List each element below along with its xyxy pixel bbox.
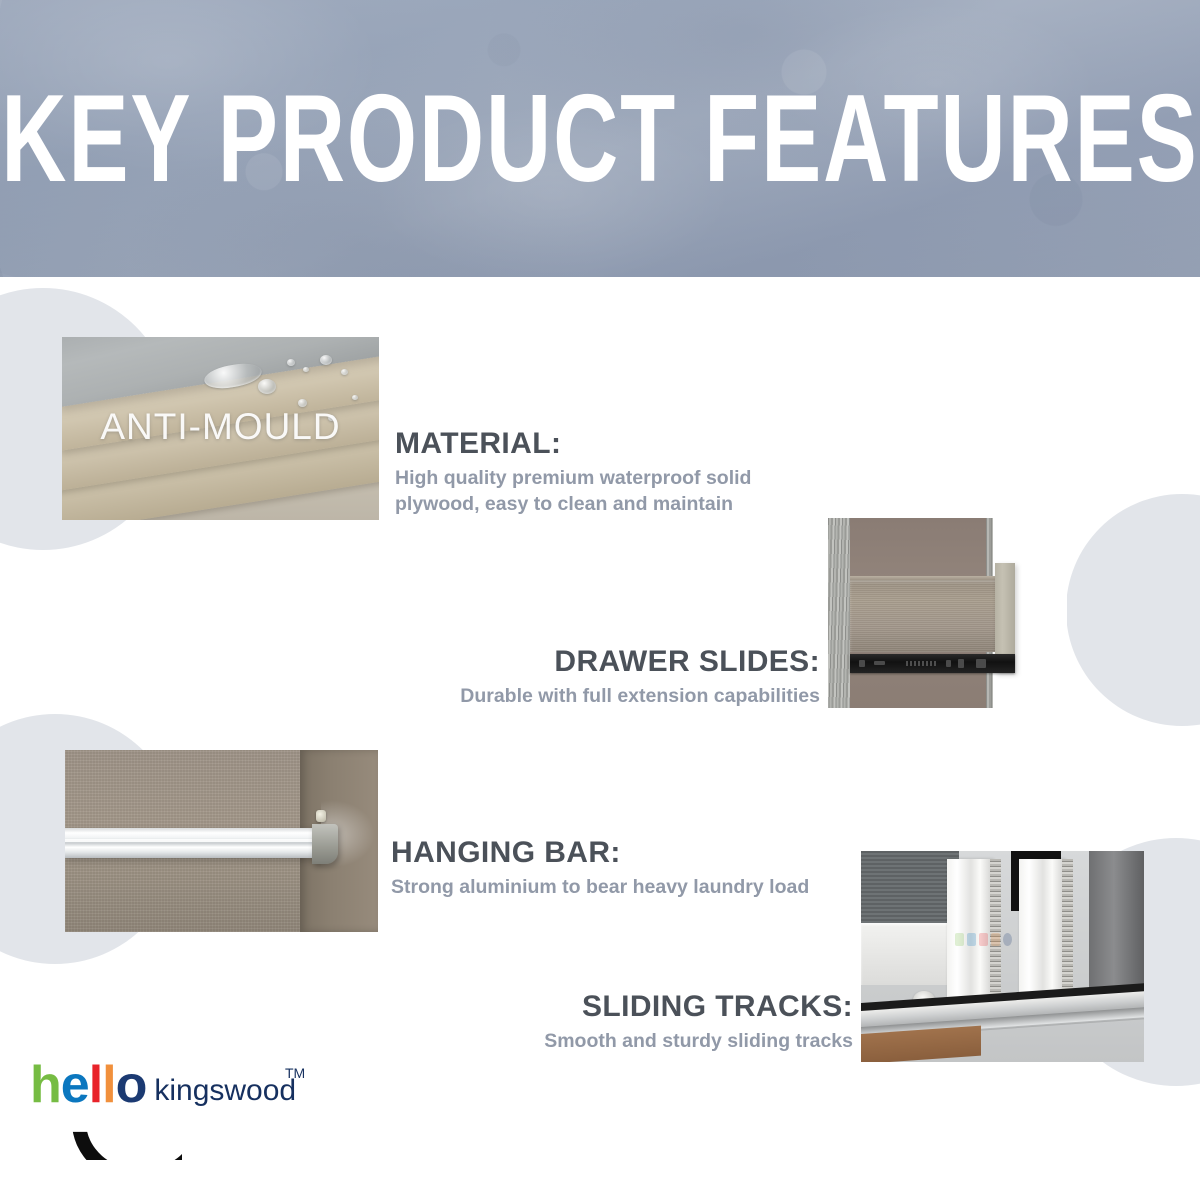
anti-mould-overlay-label: ANTI-MOULD	[62, 406, 379, 448]
logo-kingswood-text: kingswood	[154, 1076, 296, 1110]
water-droplet-icon	[341, 369, 348, 375]
sliding-track-photo	[861, 851, 1144, 1062]
feature-text-hanging-bar: HANGING BAR: Strong aluminium to bear he…	[391, 836, 811, 900]
hanging-rod-screw-icon	[316, 810, 326, 822]
feature-body-sliding-tracks: Smooth and sturdy sliding tracks	[430, 1028, 853, 1054]
photo-watermark	[955, 913, 1055, 965]
water-droplet-icon	[258, 379, 276, 394]
sliding-door-core-edge	[1062, 859, 1073, 1009]
hanging-bar-photo	[65, 750, 378, 932]
aluminium-hanging-rod	[65, 828, 323, 858]
rail-detail	[976, 659, 986, 668]
feature-heading-sliding-tracks: SLIDING TRACKS:	[430, 990, 853, 1024]
feature-heading-hanging-bar: HANGING BAR:	[391, 836, 811, 870]
feature-body-drawer-slides: Durable with full extension capabilities	[360, 683, 820, 709]
feature-text-sliding-tracks: SLIDING TRACKS: Smooth and sturdy slidin…	[430, 990, 853, 1054]
hanging-rod-end-bracket	[312, 824, 338, 864]
page-title: KEY PRODUCT FEATURES	[36, 0, 1164, 277]
feature-body-hanging-bar: Strong aluminium to bear heavy laundry l…	[391, 874, 811, 900]
watermark-dot	[991, 933, 1000, 946]
feature-text-drawer-slides: DRAWER SLIDES: Durable with full extensi…	[360, 645, 820, 709]
watermark-dot	[955, 933, 964, 946]
logo-letter-l-red: l	[89, 1062, 102, 1110]
water-droplet-icon	[287, 359, 295, 366]
rail-detail	[946, 660, 951, 667]
logo-letter-l-orange: l	[102, 1062, 115, 1110]
track-dark-upper-panel	[861, 851, 959, 923]
drawer-slide-rail	[850, 654, 1015, 673]
decorative-circle-right-upper	[1066, 494, 1200, 726]
rail-detail	[958, 659, 964, 668]
drawer-box	[850, 580, 998, 652]
water-droplet-icon	[303, 367, 309, 372]
rail-detail	[874, 661, 885, 665]
watermark-dot	[967, 933, 976, 946]
trademark-symbol: TM	[285, 1065, 305, 1081]
watermark-dot	[1003, 933, 1012, 946]
logo-wordmark-row: h e l l o kingswood	[30, 1062, 296, 1110]
rail-detail	[859, 660, 865, 667]
brand-logo[interactable]: h e l l o kingswood TM	[30, 1062, 330, 1167]
feature-heading-drawer-slides: DRAWER SLIDES:	[360, 645, 820, 679]
water-droplet-icon	[352, 395, 358, 400]
feature-body-material: High quality premium waterproof solid pl…	[395, 465, 835, 517]
logo-letter-o: o	[116, 1062, 147, 1110]
logo-letter-e: e	[61, 1062, 89, 1110]
feature-text-material: MATERIAL: High quality premium waterproo…	[395, 427, 835, 517]
page-header-banner: KEY PRODUCT FEATURES	[0, 0, 1200, 277]
logo-letter-h: h	[30, 1062, 61, 1110]
logo-smile-icon	[72, 1114, 182, 1160]
drawer-slide-photo	[828, 518, 1067, 708]
drawer-cabinet-left-panel	[828, 518, 850, 708]
rail-branding-mark	[906, 661, 936, 666]
watermark-dot	[979, 933, 988, 946]
track-white-panel	[861, 923, 961, 985]
water-droplet-icon	[320, 355, 332, 365]
feature-heading-material: MATERIAL:	[395, 427, 835, 461]
plywood-sheets-photo: ANTI-MOULD	[62, 337, 379, 520]
